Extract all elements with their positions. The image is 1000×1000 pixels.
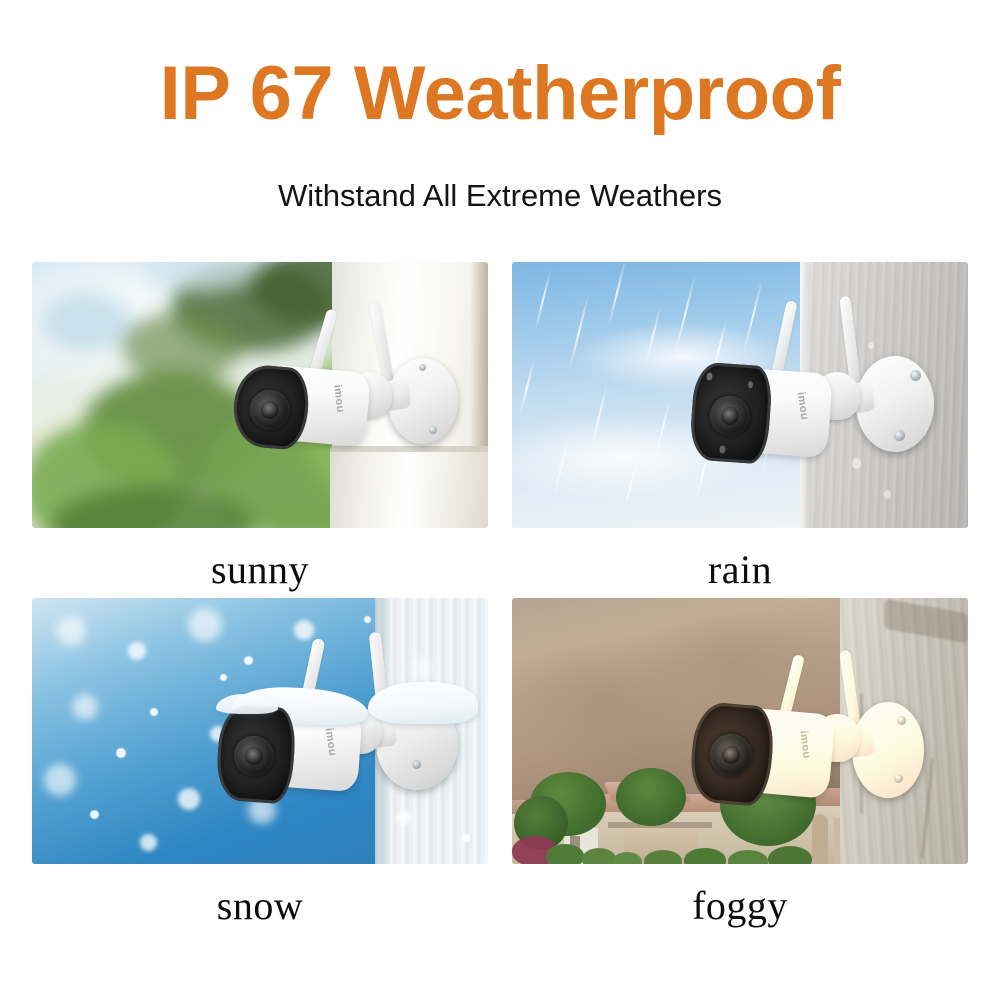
caption-rain: rain	[512, 550, 968, 590]
photo-snow: imou	[32, 598, 488, 864]
camera-faceplate	[215, 703, 298, 804]
camera-faceplate	[688, 701, 776, 808]
weather-card-foggy: imou foggy	[512, 598, 968, 926]
camera-faceplate	[689, 361, 774, 464]
camera-rain: imou	[688, 304, 958, 514]
camera-brand-label: imou	[331, 384, 346, 414]
snow-on-bracket	[368, 682, 478, 724]
camera-brand-label: imou	[322, 727, 338, 757]
camera-snow: imou	[218, 632, 488, 844]
camera-brand-label: imou	[797, 730, 812, 760]
page-subtitle: Withstand All Extreme Weathers	[0, 178, 1000, 214]
camera-foggy: imou	[692, 648, 962, 860]
weather-card-sunny: imou sunny	[32, 262, 488, 590]
weather-card-rain: imou rain	[512, 262, 968, 590]
caption-foggy: foggy	[512, 886, 968, 926]
camera-faceplate	[231, 363, 312, 451]
weather-card-snow: imou snow	[32, 598, 488, 926]
photo-sunny: imou	[32, 262, 488, 528]
camera-brand-label: imou	[794, 391, 810, 421]
photo-rain: imou	[512, 262, 968, 528]
page-title: IP 67 Weatherproof	[0, 56, 1000, 132]
photo-foggy: imou	[512, 598, 968, 864]
caption-sunny: sunny	[32, 550, 488, 590]
camera-sunny: imou	[228, 308, 478, 508]
weatherproof-feature-page: IP 67 Weatherproof Withstand All Extreme…	[0, 0, 1000, 1000]
caption-snow: snow	[32, 886, 488, 926]
